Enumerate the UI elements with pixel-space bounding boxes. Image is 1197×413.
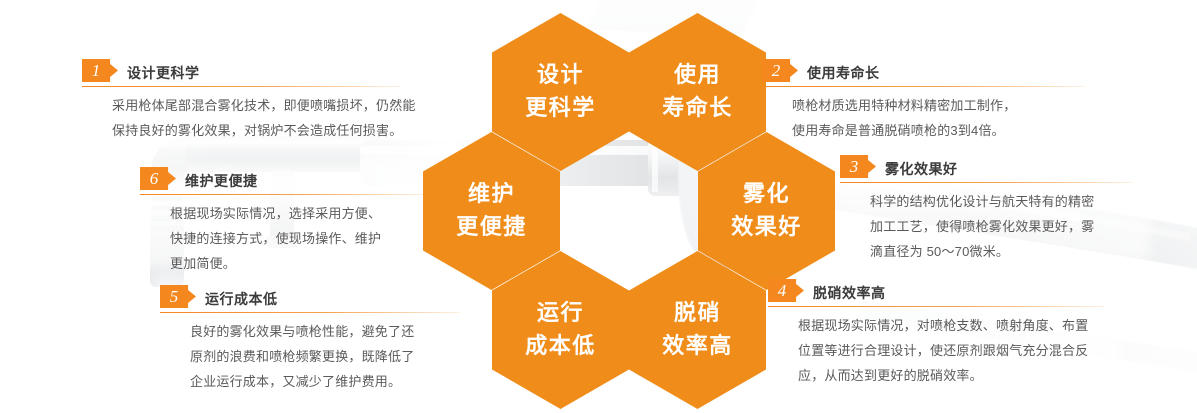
feature-body: 喷枪材质选用特种材料精密加工制作， 使用寿命是普通脱硝喷枪的3到4倍。 [762, 93, 1092, 143]
hexagon-line-2: 成本低 [525, 330, 596, 363]
body-line: 企业运行成本，又减少了维护费用。 [190, 369, 470, 394]
badge-number: 3 [840, 158, 868, 175]
badge-number: 1 [82, 62, 110, 79]
divider-rule [140, 194, 426, 195]
body-line: 良好的雾化效果与喷枪性能，避免了还 [190, 319, 470, 344]
body-line: 应，从而达到更好的脱硝效率。 [798, 363, 1113, 388]
feature-body: 根据现场实际情况，选择采用方便、 快捷的连接方式，使现场操作、维护 更加简便。 [140, 201, 440, 276]
number-badge-icon: 3 [840, 155, 876, 178]
infographic-canvas: 设计 更科学 使用 寿命长 维护 更便捷 雾化 效果好 运行 成本低 脱硝 效率… [0, 0, 1197, 413]
body-line: 原剂的浪费和喷枪频繁更换，既降低了 [190, 344, 470, 369]
feature-body: 科学的结构优化设计与航天特有的精密 加工工艺，使得喷枪雾化效果更好，雾 滴直径为… [840, 189, 1140, 264]
body-line: 快捷的连接方式，使现场操作、维护 [170, 226, 440, 251]
feature-header: 1 设计更科学 [82, 56, 412, 82]
badge-number: 4 [768, 282, 796, 299]
feature-title: 脱硝效率高 [813, 286, 886, 302]
feature-title: 使用寿命长 [807, 66, 880, 82]
feature-body: 根据现场实际情况，对喷枪支数、喷射角度、布置 位置等进行合理设计，使还原剂跟烟气… [768, 313, 1113, 388]
feature-block-6: 6 维护更便捷 根据现场实际情况，选择采用方便、 快捷的连接方式，使现场操作、维… [140, 164, 440, 276]
badge-number: 6 [140, 170, 168, 187]
hexagon-line-1: 雾化 [743, 178, 790, 211]
number-badge-icon: 4 [768, 279, 804, 302]
hexagon-line-2: 效率高 [662, 330, 733, 363]
divider-rule [160, 312, 460, 313]
feature-header: 5 运行成本低 [160, 282, 470, 308]
hexagon-line-1: 脱硝 [674, 297, 721, 330]
feature-header: 3 雾化效果好 [840, 152, 1140, 178]
feature-body: 采用枪体尾部混合雾化技术，即便喷嘴损坏，仍然能 保持良好的雾化效果，对锅炉不会造… [82, 93, 412, 143]
hexagon-line-2: 更便捷 [456, 211, 527, 244]
number-badge-icon: 1 [82, 59, 118, 82]
number-badge-icon: 6 [140, 167, 176, 190]
hexagon-line-1: 维护 [468, 178, 515, 211]
feature-title: 设计更科学 [127, 66, 200, 82]
feature-block-1: 1 设计更科学 采用枪体尾部混合雾化技术，即便喷嘴损坏，仍然能 保持良好的雾化效… [82, 56, 412, 143]
hexagon-line-2: 更科学 [525, 92, 596, 125]
number-badge-icon: 2 [762, 59, 798, 82]
feature-title: 雾化效果好 [885, 162, 958, 178]
body-line: 位置等进行合理设计，使还原剂跟烟气充分混合反 [798, 338, 1113, 363]
badge-number: 5 [160, 288, 188, 305]
badge-number: 2 [762, 62, 790, 79]
feature-block-3: 3 雾化效果好 科学的结构优化设计与航天特有的精密 加工工艺，使得喷枪雾化效果更… [840, 152, 1140, 264]
body-line: 喷枪材质选用特种材料精密加工制作， [792, 93, 1092, 118]
feature-body: 良好的雾化效果与喷枪性能，避免了还 原剂的浪费和喷枪频繁更换，既降低了 企业运行… [160, 319, 470, 394]
hexagon-line-2: 寿命长 [662, 92, 733, 125]
divider-rule [82, 86, 400, 87]
hexagon-line-1: 使用 [674, 59, 721, 92]
feature-title: 维护更便捷 [185, 174, 258, 190]
feature-block-2: 2 使用寿命长 喷枪材质选用特种材料精密加工制作， 使用寿命是普通脱硝喷枪的3到… [762, 56, 1092, 143]
body-line: 更加简便。 [170, 251, 440, 276]
feature-block-5: 5 运行成本低 良好的雾化效果与喷枪性能，避免了还 原剂的浪费和喷枪频繁更换，既… [160, 282, 470, 394]
hexagon-line-2: 效果好 [731, 211, 802, 244]
feature-title: 运行成本低 [205, 292, 278, 308]
hexagon-line-1: 设计 [537, 59, 584, 92]
body-line: 滴直径为 50～70微米。 [870, 239, 1140, 264]
body-line: 根据现场实际情况，选择采用方便、 [170, 201, 440, 226]
divider-rule [768, 306, 1104, 307]
body-line: 科学的结构优化设计与航天特有的精密 [870, 189, 1140, 214]
body-line: 使用寿命是普通脱硝喷枪的3到4倍。 [792, 118, 1092, 143]
hexagon-line-1: 运行 [537, 297, 584, 330]
body-line: 加工工艺，使得喷枪雾化效果更好，雾 [870, 214, 1140, 239]
feature-header: 6 维护更便捷 [140, 164, 440, 190]
body-line: 根据现场实际情况，对喷枪支数、喷射角度、布置 [798, 313, 1113, 338]
divider-rule [762, 86, 1084, 87]
divider-rule [840, 182, 1132, 183]
feature-block-4: 4 脱硝效率高 根据现场实际情况，对喷枪支数、喷射角度、布置 位置等进行合理设计… [768, 276, 1113, 388]
feature-header: 4 脱硝效率高 [768, 276, 1113, 302]
body-line: 采用枪体尾部混合雾化技术，即便喷嘴损坏，仍然能 [112, 93, 412, 118]
body-line: 保持良好的雾化效果，对锅炉不会造成任何损害。 [112, 118, 412, 143]
feature-header: 2 使用寿命长 [762, 56, 1092, 82]
number-badge-icon: 5 [160, 285, 196, 308]
